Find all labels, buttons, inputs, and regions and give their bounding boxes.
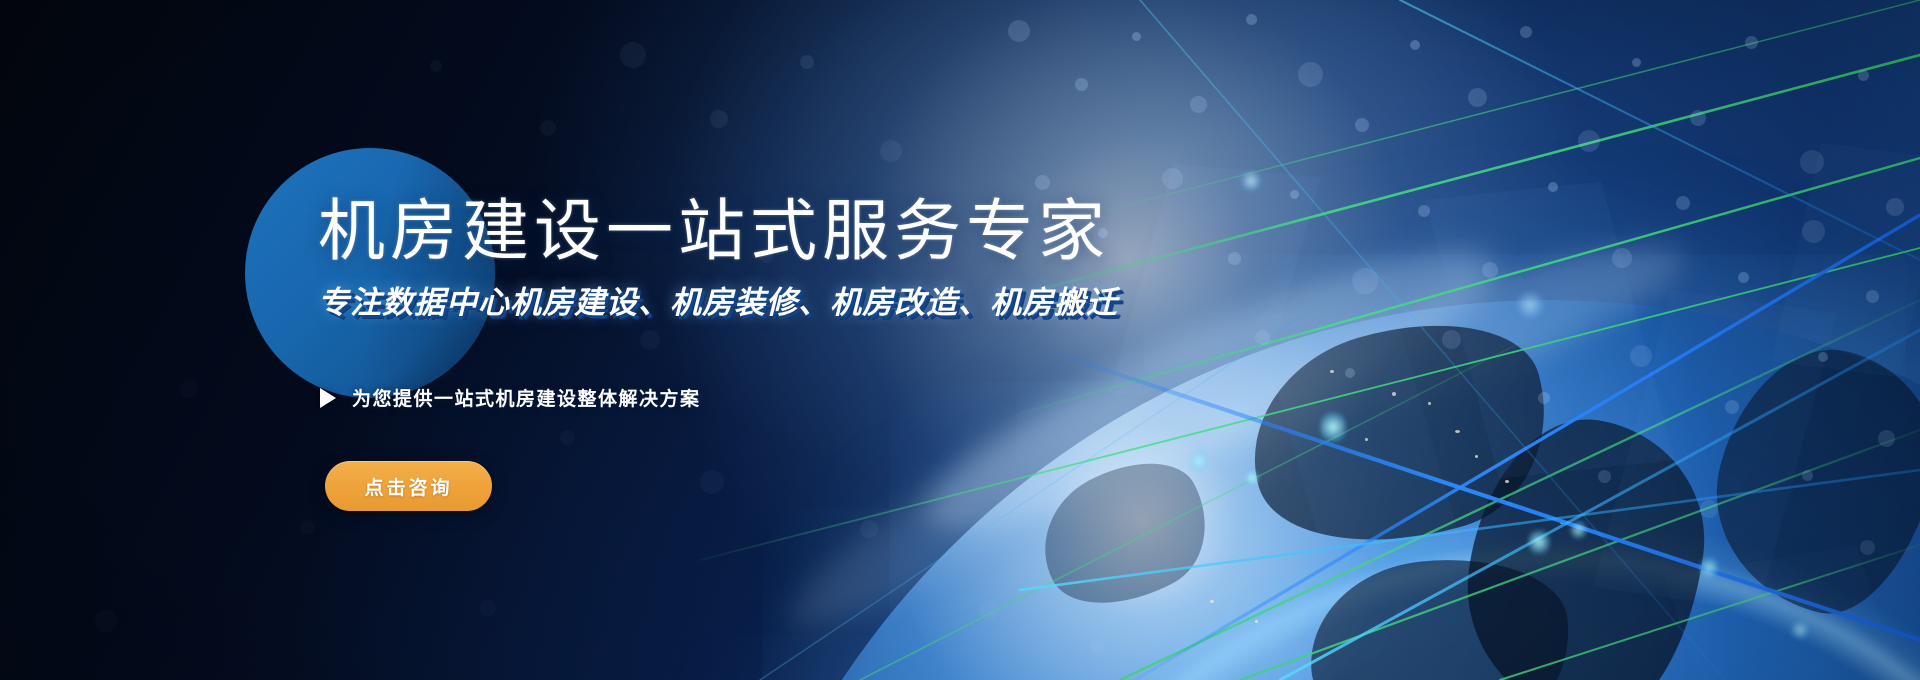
tagline-label: 为您提供一站式机房建设整体解决方案	[352, 384, 701, 411]
hero-banner: 机房建设一站式服务专家 专注数据中心机房建设、机房装修、机房改造、机房搬迁 为您…	[0, 0, 1920, 680]
consult-button[interactable]: 点击咨询	[325, 461, 492, 511]
page-title: 机房建设一站式服务专家	[318, 196, 1110, 267]
banner-content: 机房建设一站式服务专家 专注数据中心机房建设、机房装修、机房改造、机房搬迁 为您…	[0, 0, 1920, 680]
tagline: 为您提供一站式机房建设整体解决方案	[320, 384, 701, 411]
sub-headline: 专注数据中心机房建设、机房装修、机房改造、机房搬迁	[318, 286, 1118, 320]
play-triangle-icon	[320, 388, 336, 408]
